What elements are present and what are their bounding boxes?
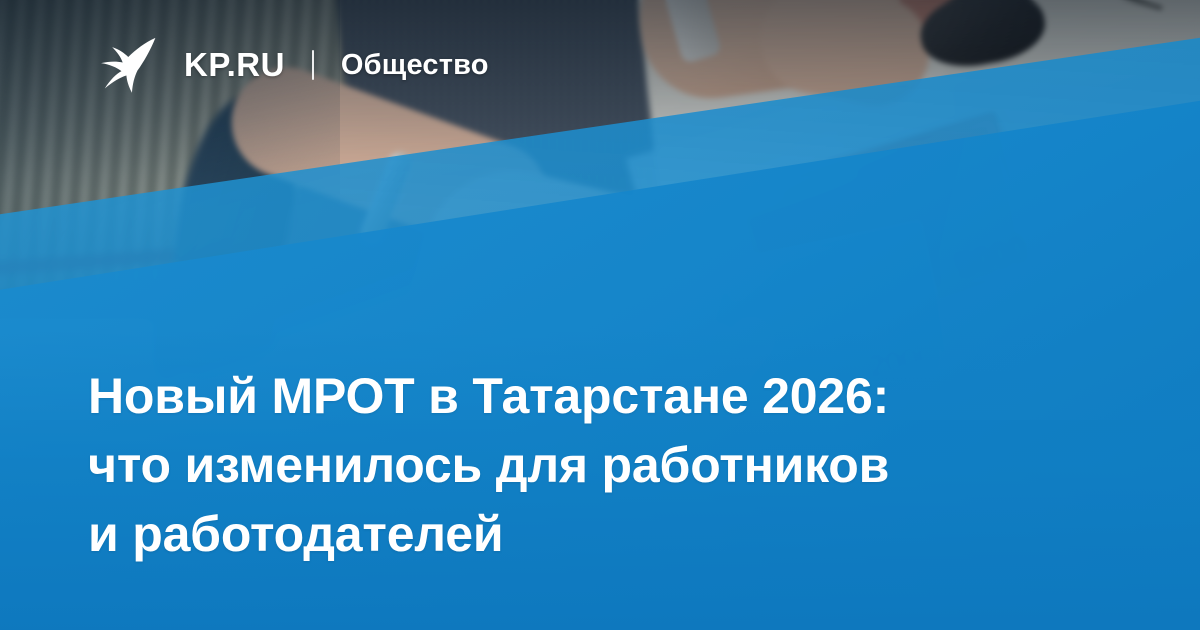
header-separator [312,50,314,80]
brand-header[interactable]: KP.RU Общество [96,36,489,94]
swallow-bird-icon [96,36,158,94]
headline-line-1: Новый МРОТ в Татарстане 2026: [88,362,1078,431]
section-label[interactable]: Общество [341,49,489,82]
headline-line-3: и работодателей [88,500,1078,569]
brand-name: KP.RU [184,46,285,84]
page-title: Новый МРОТ в Татарстане 2026: что измени… [88,362,1078,569]
article-social-card: 5000 20002000 2000 [0,0,1200,630]
headline-line-2: что изменилось для работников [88,431,1078,500]
